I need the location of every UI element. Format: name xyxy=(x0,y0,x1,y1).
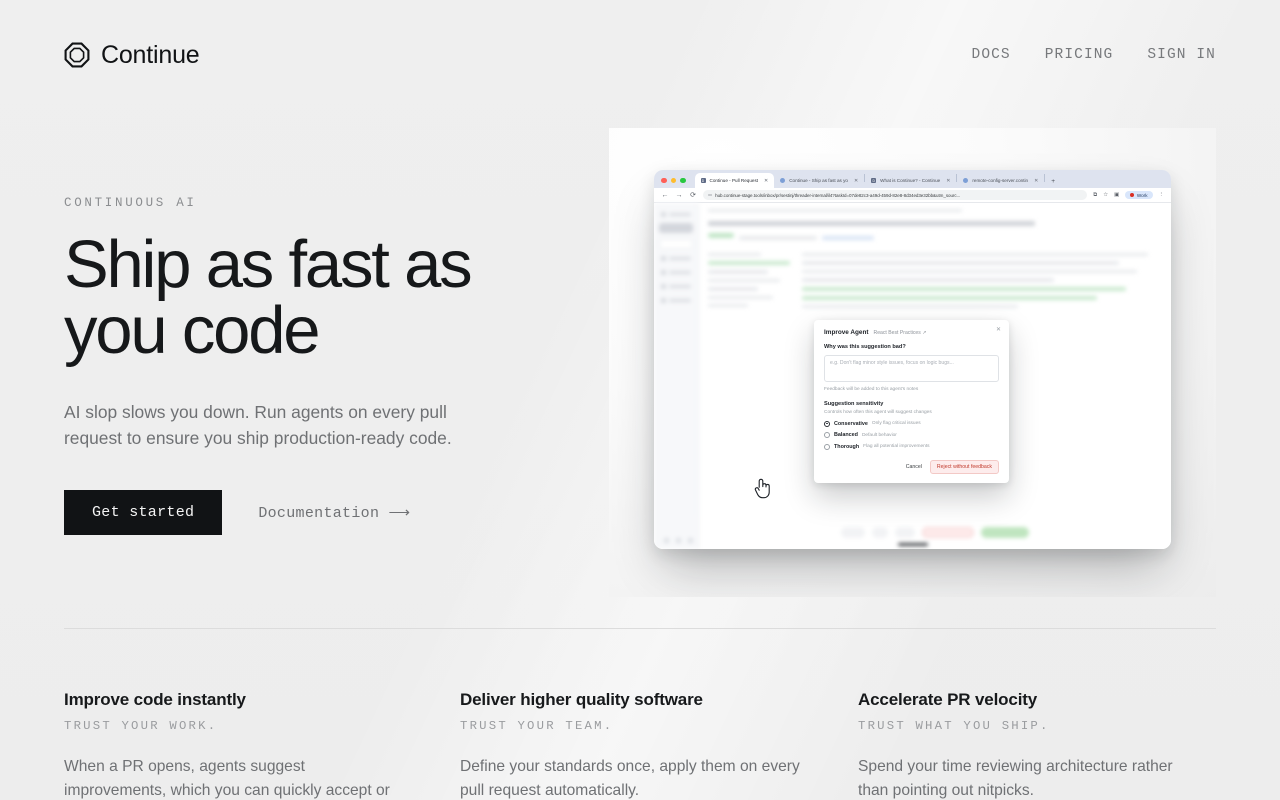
pointer-hand-cursor xyxy=(754,478,771,504)
circle-icon xyxy=(780,178,785,183)
install-app-icon[interactable]: ⧉ xyxy=(1093,192,1097,199)
feature-body: Define your standards once, apply them o… xyxy=(460,755,805,800)
close-icon[interactable]: ✕ xyxy=(854,178,858,184)
app-sidebar xyxy=(654,203,699,549)
hero-visual-card: D Continue - Pull Request ✕ Continue - S… xyxy=(609,128,1216,597)
maximize-window-dot[interactable] xyxy=(680,178,686,184)
close-icon[interactable]: ✕ xyxy=(764,178,768,184)
feature-body: When a PR opens, agents suggest improvem… xyxy=(64,755,409,800)
browser-toolbar: ← → ⟳ ⚏ hub.continue-stage.tools/inbox/p… xyxy=(654,188,1171,203)
sidebar-item xyxy=(658,281,694,291)
doc-icon: D xyxy=(871,178,876,183)
browser-tab-title: remote-config-server.contin xyxy=(972,178,1028,183)
app-viewport: ✕ Improve Agent React Best Practices ↗ W… xyxy=(654,203,1171,549)
minimize-window-dot[interactable] xyxy=(671,178,677,184)
home-indicator xyxy=(898,543,928,546)
sidebar-item xyxy=(658,253,694,263)
hero-eyebrow: CONTINUOUS AI xyxy=(64,196,584,210)
modal-header: Improve Agent React Best Practices ↗ xyxy=(824,329,999,336)
sidebar-primary-action xyxy=(659,223,693,233)
browser-tab-title: What is Continue? - Continue xyxy=(880,178,940,183)
option-description: Default behavior xyxy=(862,433,897,438)
modal-subtitle-link[interactable]: React Best Practices ↗ xyxy=(874,330,927,336)
headline-line-1: Ship as fast as xyxy=(64,227,470,302)
browser-tab-title: Continue - Pull Request xyxy=(710,178,759,183)
feature-card-pr-velocity: Accelerate PR velocity TRUST WHAT YOU SH… xyxy=(858,690,1216,800)
sensitivity-section-title: Suggestion sensitivity xyxy=(824,401,999,407)
address-bar[interactable]: ⚏ hub.continue-stage.tools/inbox/pr/sest… xyxy=(703,190,1087,201)
profile-label: Work xyxy=(1137,193,1148,198)
close-icon[interactable]: ✕ xyxy=(996,326,1001,333)
sidebar-item xyxy=(659,239,693,249)
browser-tab[interactable]: remote-config-server.contin ✕ xyxy=(957,173,1044,188)
close-icon[interactable]: ✕ xyxy=(946,178,950,184)
feature-title: Accelerate PR velocity xyxy=(858,690,1216,710)
side-panel-icon[interactable]: ▣ xyxy=(1114,192,1119,198)
radio-icon[interactable] xyxy=(824,432,830,438)
browser-mockup: D Continue - Pull Request ✕ Continue - S… xyxy=(654,170,1171,549)
browser-tab[interactable]: Continue - Ship as fast as yo ✕ xyxy=(774,173,864,188)
feature-title: Deliver higher quality software xyxy=(460,690,858,710)
option-description: Only flag critical issues xyxy=(872,421,921,426)
radio-option-balanced[interactable]: Balanced Default behavior xyxy=(824,432,999,438)
hero-section: CONTINUOUS AI Ship as fast as you code A… xyxy=(0,0,1280,628)
radio-option-conservative[interactable]: Conservative Only flag critical issues xyxy=(824,421,999,427)
feature-eyebrow: TRUST YOUR WORK. xyxy=(64,719,460,733)
browser-tab-active[interactable]: D Continue - Pull Request ✕ xyxy=(695,173,775,188)
feedback-note: Feedback will be added to this agent's n… xyxy=(824,387,999,392)
option-label: Thorough xyxy=(834,444,859,450)
hero-copy: CONTINUOUS AI Ship as fast as you code A… xyxy=(64,196,584,535)
close-icon[interactable]: ✕ xyxy=(1034,178,1038,184)
sidebar-item xyxy=(658,295,694,305)
browser-tab[interactable]: D What is Continue? - Continue ✕ xyxy=(865,173,956,188)
landing-page: Continue DOCS PRICING SIGN IN CONTINUOUS… xyxy=(0,0,1280,800)
option-description: Flag all potential improvements xyxy=(863,444,929,449)
sensitivity-section-subtitle: Controls how often this agent will sugge… xyxy=(824,410,999,415)
radio-icon-selected[interactable] xyxy=(824,421,830,427)
radio-icon[interactable] xyxy=(824,444,830,450)
doc-icon: D xyxy=(701,178,706,183)
reject-pill xyxy=(922,527,974,538)
get-started-button[interactable]: Get started xyxy=(64,490,222,535)
profile-avatar-icon xyxy=(1130,193,1134,197)
arrow-left-icon[interactable]: ← xyxy=(661,192,669,199)
browser-tab-title: Continue - Ship as fast as yo xyxy=(789,178,848,183)
reload-icon[interactable]: ⟳ xyxy=(689,191,697,199)
browser-tab-strip: D Continue - Pull Request ✕ Continue - S… xyxy=(654,170,1171,188)
address-bar-url: hub.continue-stage.tools/inbox/pr/sestin… xyxy=(715,193,960,198)
page-title: Ship as fast as you code xyxy=(64,232,584,365)
star-icon[interactable]: ☆ xyxy=(1103,192,1108,198)
kebab-menu-icon[interactable]: ⋮ xyxy=(1159,192,1165,198)
section-divider xyxy=(64,628,1216,629)
new-tab-button[interactable]: + xyxy=(1045,178,1061,188)
app-bottom-bar xyxy=(699,515,1171,549)
site-settings-icon[interactable]: ⚏ xyxy=(708,192,712,198)
feedback-textarea[interactable]: e.g. Don't flag minor style issues, focu… xyxy=(824,355,999,382)
option-label: Balanced xyxy=(834,432,858,438)
reject-without-feedback-button[interactable]: Reject without feedback xyxy=(930,460,999,474)
modal-title: Improve Agent xyxy=(824,329,869,336)
cancel-button[interactable]: Cancel xyxy=(906,464,922,470)
sidebar-item xyxy=(658,267,694,277)
modal-actions: Cancel Reject without feedback xyxy=(824,460,999,474)
feature-eyebrow: TRUST YOUR TEAM. xyxy=(460,719,858,733)
option-label: Conservative xyxy=(834,421,868,427)
feature-title: Improve code instantly xyxy=(64,690,460,710)
feature-body: Spend your time reviewing architecture r… xyxy=(858,755,1203,800)
feature-eyebrow: TRUST WHAT YOU SHIP. xyxy=(858,719,1216,733)
close-window-dot[interactable] xyxy=(661,178,667,184)
profile-chip[interactable]: Work xyxy=(1125,191,1152,199)
hero-subcopy: AI slop slows you down. Run agents on ev… xyxy=(64,399,484,452)
feedback-question-label: Why was this suggestion bad? xyxy=(824,344,999,350)
feature-card-improve-code: Improve code instantly TRUST YOUR WORK. … xyxy=(64,690,460,800)
window-traffic-lights xyxy=(661,178,686,189)
improve-agent-modal: ✕ Improve Agent React Best Practices ↗ W… xyxy=(814,320,1009,483)
circle-icon xyxy=(963,178,968,183)
radio-option-thorough[interactable]: Thorough Flag all potential improvements xyxy=(824,444,999,450)
features-section: Improve code instantly TRUST YOUR WORK. … xyxy=(64,690,1216,800)
arrow-right-icon[interactable]: → xyxy=(675,192,683,199)
documentation-link[interactable]: Documentation ⟶ xyxy=(258,503,410,522)
hero-cta-row: Get started Documentation ⟶ xyxy=(64,490,584,535)
approve-pill xyxy=(981,527,1029,538)
sidebar-header-row xyxy=(658,209,694,219)
feature-card-higher-quality: Deliver higher quality software TRUST YO… xyxy=(460,690,858,800)
headline-line-2: you code xyxy=(64,293,318,368)
